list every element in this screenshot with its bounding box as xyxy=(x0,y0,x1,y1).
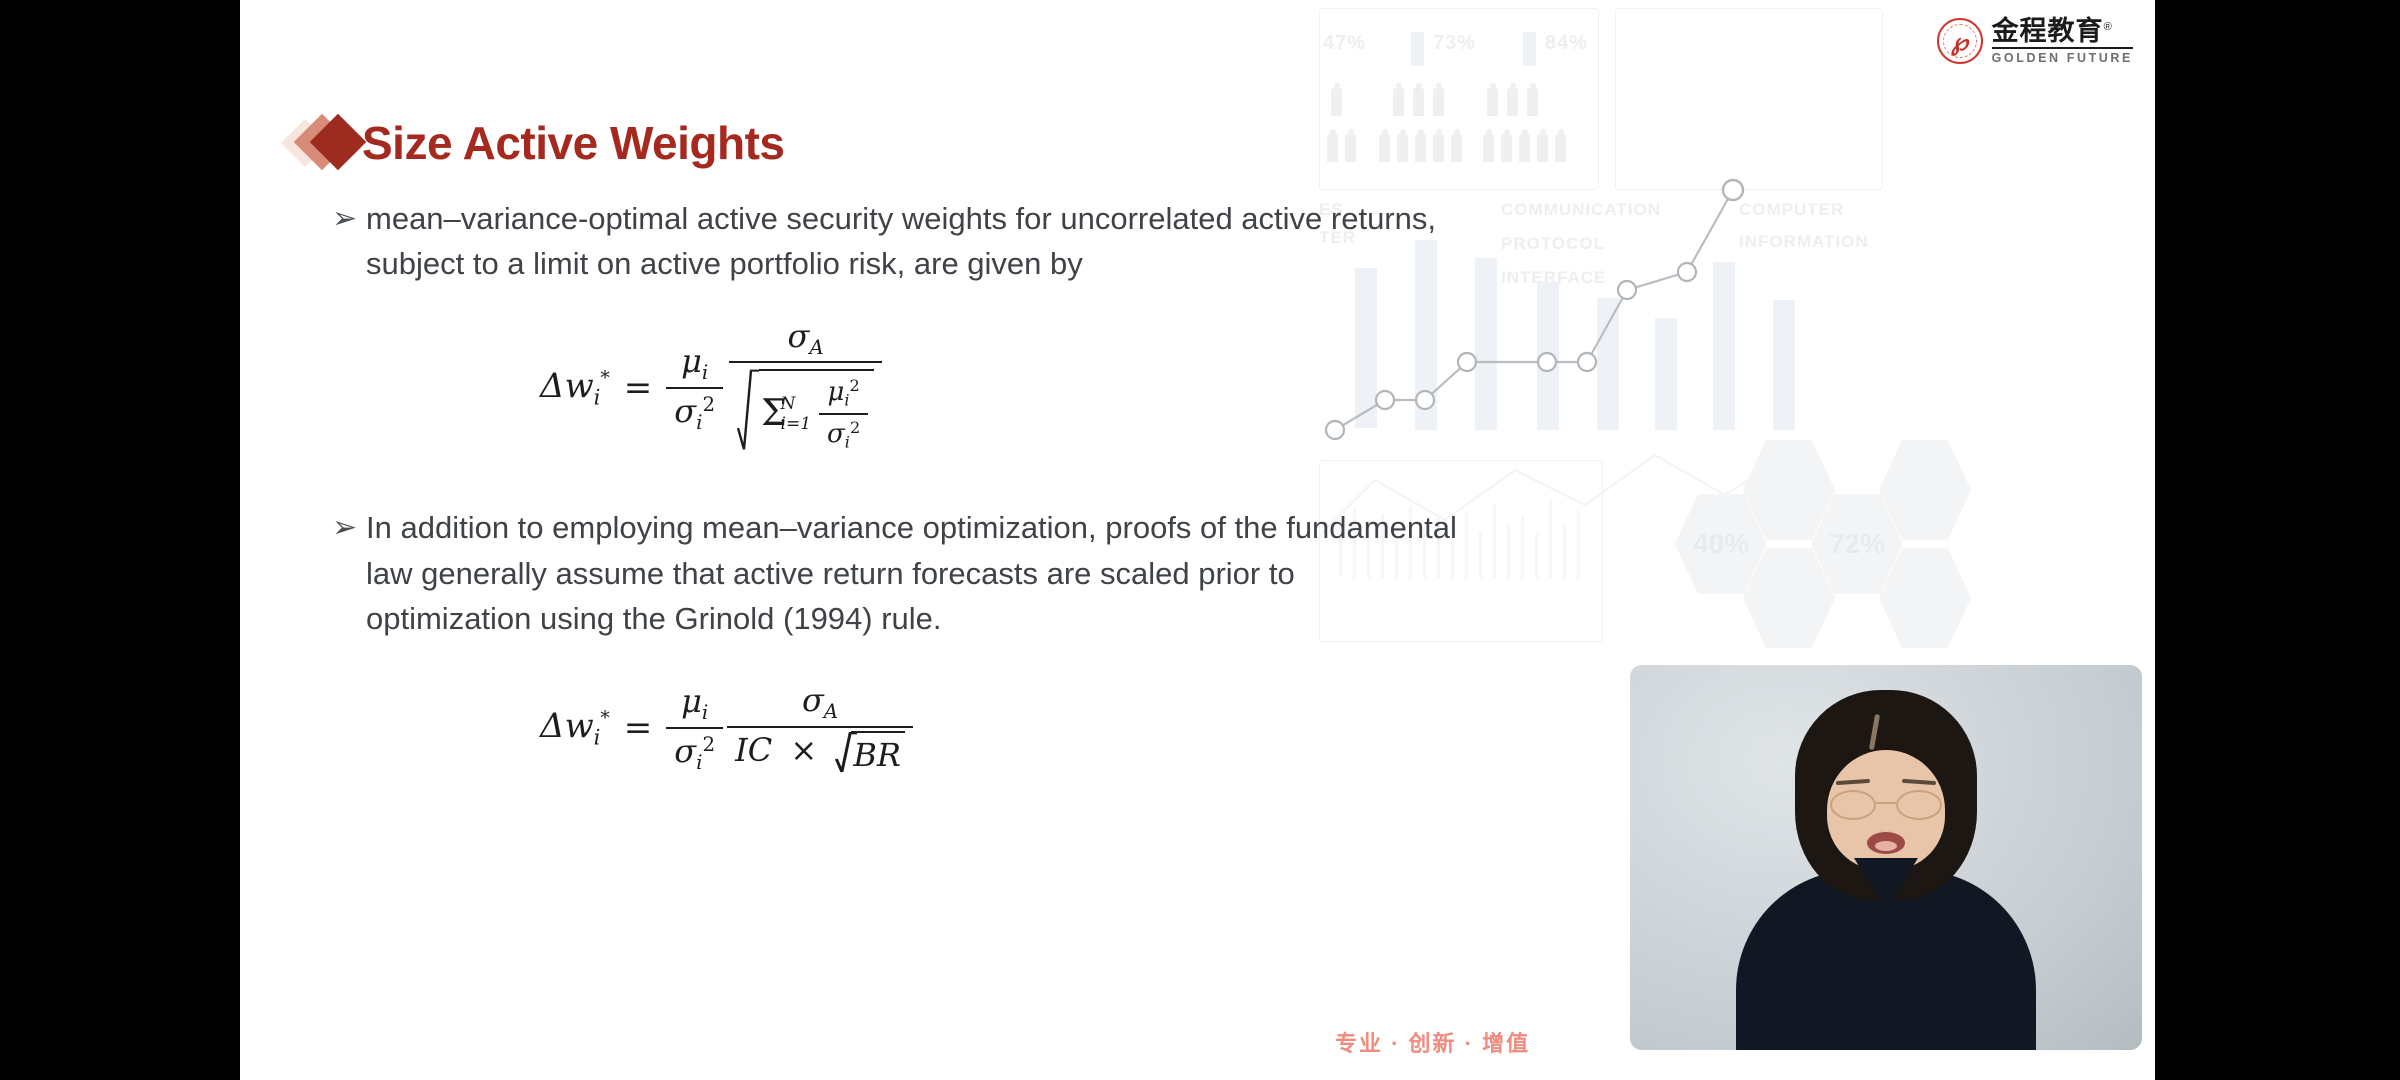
bg-hexagon-group: 40% 72% xyxy=(1675,478,2015,660)
bg-person xyxy=(1555,134,1566,162)
glasses-lens-left xyxy=(1830,790,1876,820)
formula1-star: * xyxy=(600,368,609,389)
formula2-ic: IC xyxy=(735,731,772,769)
formula1-inner-den: σi2 xyxy=(819,413,868,452)
formula2-sigmaA-var: σ xyxy=(802,681,824,719)
formula1-fraction-sigmaA-sqrt: σA Σ N xyxy=(729,317,882,460)
formula1-sigmaA: σA xyxy=(780,317,832,362)
brand-tagline: 专业 · 创新 · 增值 xyxy=(1335,1026,1530,1058)
bullet-text-1: mean–variance-optimal active security we… xyxy=(366,196,1466,287)
logo-name-en: GOLDEN FUTURE xyxy=(1992,52,2133,65)
formula2-fraction-mu-sigma: μi σi2 xyxy=(666,682,723,774)
formula2-delta: Δ xyxy=(540,706,565,746)
formula2-sigma-sup: 2 xyxy=(702,733,715,756)
bullet-item-2: ➢ In addition to employing mean–variance… xyxy=(332,505,1580,641)
formula2-num: μi xyxy=(673,682,716,727)
bg-panel-area xyxy=(1615,8,1883,190)
bg-person xyxy=(1397,134,1408,162)
formula2-mu-sub: i xyxy=(702,701,708,724)
formula2-radicand: BR xyxy=(851,731,905,774)
logo-text-block: 金程教育® GOLDEN FUTURE xyxy=(1992,18,2133,65)
formula-active-weight-uncorrelated: Δwi* = μi σi2 σA xyxy=(240,317,1580,460)
formula2-lhs: Δwi* xyxy=(540,706,610,749)
formula1-inner-fraction: μi2 σi2 xyxy=(819,376,868,451)
formula1-fraction-mu-sigma: μi σi2 xyxy=(666,342,723,434)
bullet-arrow-icon: ➢ xyxy=(332,505,366,550)
bg-person xyxy=(1393,88,1404,116)
bg-person xyxy=(1527,88,1538,116)
bg-hexagon-value-2: 72% xyxy=(1811,492,1903,596)
bg-label-pct-3: 84% xyxy=(1545,32,1588,55)
formula1-sqrt-block: Σ N i=1 μi2 σi2 xyxy=(729,361,882,459)
formula1-sigma-sup: 2 xyxy=(702,393,715,416)
bg-person xyxy=(1483,134,1494,162)
bg-person xyxy=(1433,88,1444,116)
formula1-inner-mu: μ xyxy=(827,377,844,407)
bg-column xyxy=(1655,318,1677,430)
bg-person xyxy=(1487,88,1498,116)
bullet-arrow-icon: ➢ xyxy=(332,196,366,241)
presenter-mouth xyxy=(1867,832,1905,854)
logo-seal-icon: ℘ xyxy=(1937,18,1983,64)
brand-logo: ℘ 金程教育® GOLDEN FUTURE xyxy=(1937,18,2133,65)
bg-label-pct-2: 73% xyxy=(1433,32,1476,55)
bg-hexagon: 40% xyxy=(1675,492,1767,596)
formula1-sigma: σ xyxy=(674,392,696,430)
page-title: Size Active Weights xyxy=(362,116,785,170)
bg-label-information: INFORMATION xyxy=(1739,232,1869,252)
formula2-den: σi2 xyxy=(666,727,723,774)
bg-column xyxy=(1713,262,1735,430)
formula1-sigmaA-sub: A xyxy=(809,335,823,358)
bg-column xyxy=(1597,298,1619,430)
bg-label-computer: COMPUTER xyxy=(1739,200,1844,220)
letterbox-bar-right xyxy=(2155,0,2400,1080)
bg-person xyxy=(1519,134,1530,162)
letterbox-bar-left xyxy=(0,0,240,1080)
formula2-star: * xyxy=(600,708,609,729)
formula1-inner-sigma: σ xyxy=(827,419,845,449)
formula2-mu: μ xyxy=(681,682,702,720)
bg-person xyxy=(1451,134,1462,162)
formula2-sigmaA: σA xyxy=(794,681,846,726)
bg-column xyxy=(1773,300,1795,430)
bg-bar-2 xyxy=(1523,32,1536,66)
formula1-den: σi2 xyxy=(666,387,723,434)
bg-hexagon xyxy=(1743,546,1835,650)
bg-person xyxy=(1501,134,1512,162)
diamond-bullet-icon xyxy=(288,112,358,174)
bg-person xyxy=(1507,88,1518,116)
glasses-bridge xyxy=(1876,802,1896,804)
formula1-radicand: Σ N i=1 μi2 σi2 xyxy=(759,369,874,451)
formula2-denominator: IC × BR xyxy=(727,726,913,774)
formula2-sigmaA-sub: A xyxy=(824,700,838,723)
formula2-br: BR xyxy=(853,736,901,774)
formula1-inner-mu-sup: 2 xyxy=(850,376,860,395)
formula1-sum-limits: N i=1 xyxy=(781,394,812,434)
bg-hexagon-value-1: 40% xyxy=(1675,492,1767,596)
sqrt-radical-icon xyxy=(737,369,759,451)
formula1-equals: = xyxy=(624,368,653,408)
bg-person xyxy=(1331,88,1342,116)
formula1-sigmaA-var: σ xyxy=(788,317,810,355)
formula2-equals: = xyxy=(624,708,653,748)
presenter-glasses-icon xyxy=(1830,790,1942,820)
bg-person xyxy=(1433,134,1444,162)
logo-name-cn: 金程教育® xyxy=(1992,18,2133,49)
slide-title-row: Size Active Weights xyxy=(288,112,785,174)
bg-label-pct-1: 47% xyxy=(1323,32,1366,55)
screen: 47% 73% 84% ES xyxy=(0,0,2400,1080)
formula1-mu-sub: i xyxy=(702,361,708,384)
formula1-inner-num: μi2 xyxy=(819,376,867,413)
bg-hexagon xyxy=(1879,546,1971,650)
sqrt-radical-icon xyxy=(835,731,851,774)
formula1-sqrt: Σ N i=1 μi2 σi2 xyxy=(737,369,874,451)
formula2-sqrt: BR xyxy=(835,731,905,774)
formula1-inner-sigma-sup: 2 xyxy=(850,418,860,437)
formula1-num: μi xyxy=(673,342,716,387)
bg-hexagon xyxy=(1879,438,1971,542)
bg-person xyxy=(1327,134,1338,162)
logo-seal-glyph: ℘ xyxy=(1951,27,1968,56)
bg-person xyxy=(1413,88,1424,116)
bg-panel-people xyxy=(1319,8,1599,190)
formula1-sum-lower: i=1 xyxy=(781,414,812,434)
slide-body: ➢ mean–variance-optimal active security … xyxy=(240,196,1580,774)
formula2-fraction-sigmaA-icbr: σA IC × BR xyxy=(727,681,913,774)
formula1-delta: Δ xyxy=(540,366,565,406)
bg-person xyxy=(1537,134,1548,162)
bg-person xyxy=(1415,134,1426,162)
formula2-times: × xyxy=(790,731,817,769)
formula2-sigma: σ xyxy=(674,732,696,770)
bg-bar-1 xyxy=(1411,32,1424,66)
formula1-w: w xyxy=(565,366,594,406)
bg-hexagon: 72% xyxy=(1811,492,1903,596)
formula1-mu: μ xyxy=(681,342,702,380)
logo-registered-mark: ® xyxy=(2104,21,2113,33)
slide-canvas: 47% 73% 84% ES xyxy=(240,0,2155,1080)
presenter-video-panel[interactable] xyxy=(1630,665,2142,1050)
bg-person xyxy=(1345,134,1356,162)
bg-person xyxy=(1379,134,1390,162)
bg-hexagon xyxy=(1743,438,1835,542)
formula-grinold-rule: Δwi* = μi σi2 σA IC × xyxy=(240,681,1580,774)
bullet-text-2: In addition to employing mean–variance o… xyxy=(366,505,1466,641)
glasses-lens-right xyxy=(1896,790,1942,820)
formula1-sum-upper: N xyxy=(781,394,812,414)
formula1-summation: Σ N i=1 xyxy=(761,393,811,434)
formula2-w: w xyxy=(565,706,594,746)
bullet-item-1: ➢ mean–variance-optimal active security … xyxy=(332,196,1580,287)
formula1-lhs: Δwi* xyxy=(540,366,610,409)
logo-name-cn-text: 金程教育 xyxy=(1992,16,2104,46)
